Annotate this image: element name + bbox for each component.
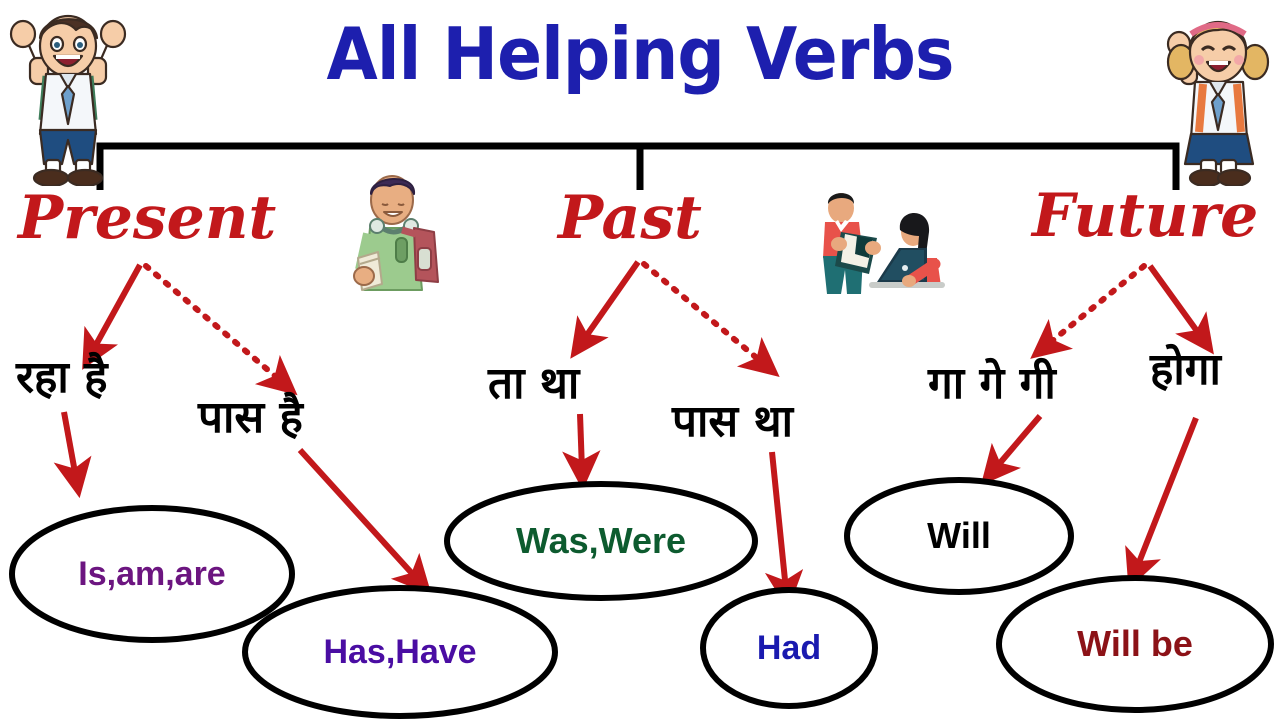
cheering-schoolboy-illustration	[2, 2, 134, 186]
term-label-will-be: Will be	[1077, 626, 1193, 662]
two-people-working-illustration	[795, 192, 963, 296]
term-label-was-were: Was,Were	[516, 523, 686, 559]
term-label-had: Had	[757, 631, 821, 665]
cue-label-present-perfect: पास है	[198, 396, 303, 440]
connector-layer	[0, 0, 1280, 720]
cue-label-past-perfect: पास था	[672, 400, 793, 444]
cue-label-future-simple: गा गे गी	[928, 362, 1056, 406]
student-with-backpack-illustration	[336, 172, 454, 294]
term-ovals	[12, 480, 1271, 716]
diagram-canvas: All Helping Verbs Present Past Future रह…	[0, 0, 1280, 720]
term-label-will: Will	[927, 518, 991, 554]
term-label-has-have: Has,Have	[323, 635, 476, 669]
future-branch-arrows	[994, 266, 1202, 570]
branch-heading-future: Future	[1032, 186, 1258, 246]
cheering-schoolgirl-illustration	[1155, 4, 1279, 186]
term-label-is-am-are: Is,am,are	[78, 557, 225, 591]
branch-heading-past: Past	[558, 188, 702, 248]
cue-label-past-continuous: ता था	[488, 362, 579, 406]
cue-label-present-continuous: रहा है	[16, 356, 107, 400]
cue-label-future-be: होगा	[1150, 348, 1221, 392]
branch-heading-present: Present	[18, 188, 276, 248]
page-title: All Helping Verbs	[51, 18, 1229, 90]
